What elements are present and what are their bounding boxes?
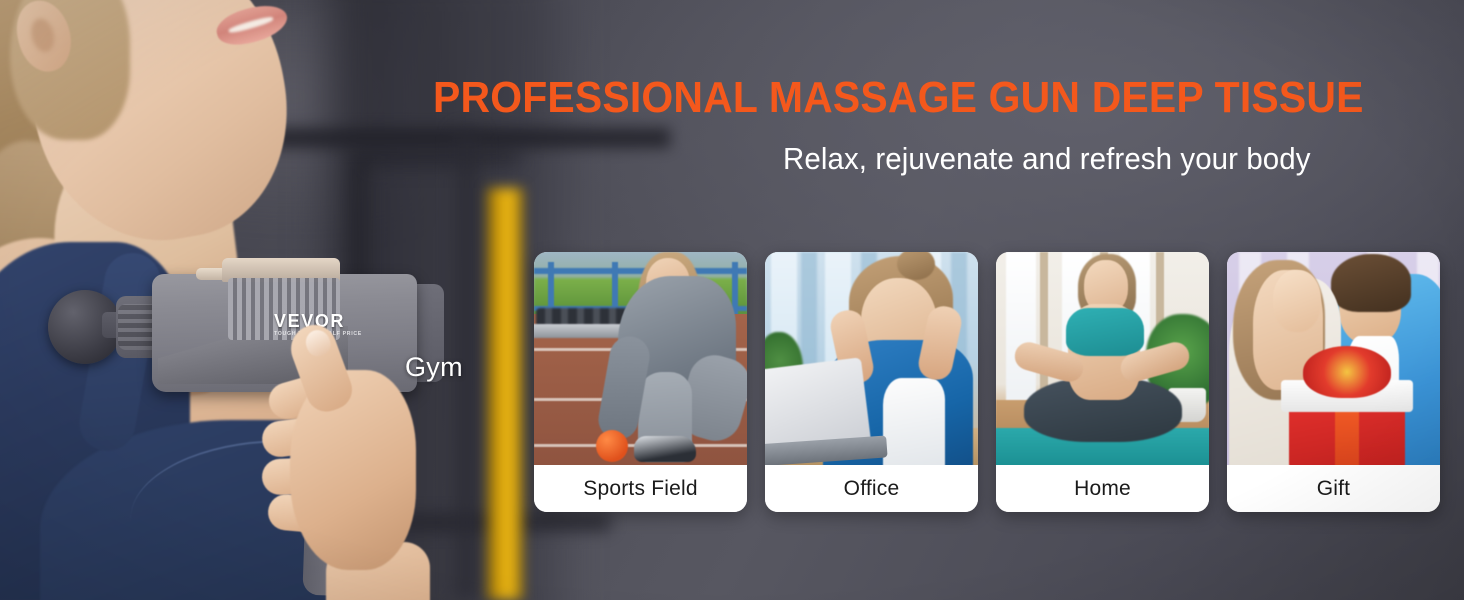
background-post-yellow bbox=[487, 188, 523, 600]
scene-label-gym: Gym bbox=[405, 352, 463, 383]
scenario-card-list: Sports Field bbox=[534, 252, 1440, 512]
scenario-image-sports-field bbox=[534, 252, 747, 465]
scenario-label-home: Home bbox=[996, 465, 1209, 512]
scenario-label-office: Office bbox=[765, 465, 978, 512]
scenario-image-gift bbox=[1227, 252, 1440, 465]
scenario-card-home[interactable]: Home bbox=[996, 252, 1209, 512]
subheadline: Relax, rejuvenate and refresh your body bbox=[783, 142, 1410, 176]
headline: PROFESSIONAL MASSAGE GUN DEEP TISSUE bbox=[433, 76, 1372, 121]
scenario-card-sports-field[interactable]: Sports Field bbox=[534, 252, 747, 512]
scenario-image-office bbox=[765, 252, 978, 465]
scenario-label-sports-field: Sports Field bbox=[534, 465, 747, 512]
product-banner: VEVOR TOUGH TOOLS, HALF PRICE Gym PROFES… bbox=[0, 0, 1464, 600]
scenario-card-office[interactable]: Office bbox=[765, 252, 978, 512]
scenario-image-home bbox=[996, 252, 1209, 465]
scenario-label-gift: Gift bbox=[1227, 465, 1440, 512]
scenario-card-gift[interactable]: Gift bbox=[1227, 252, 1440, 512]
